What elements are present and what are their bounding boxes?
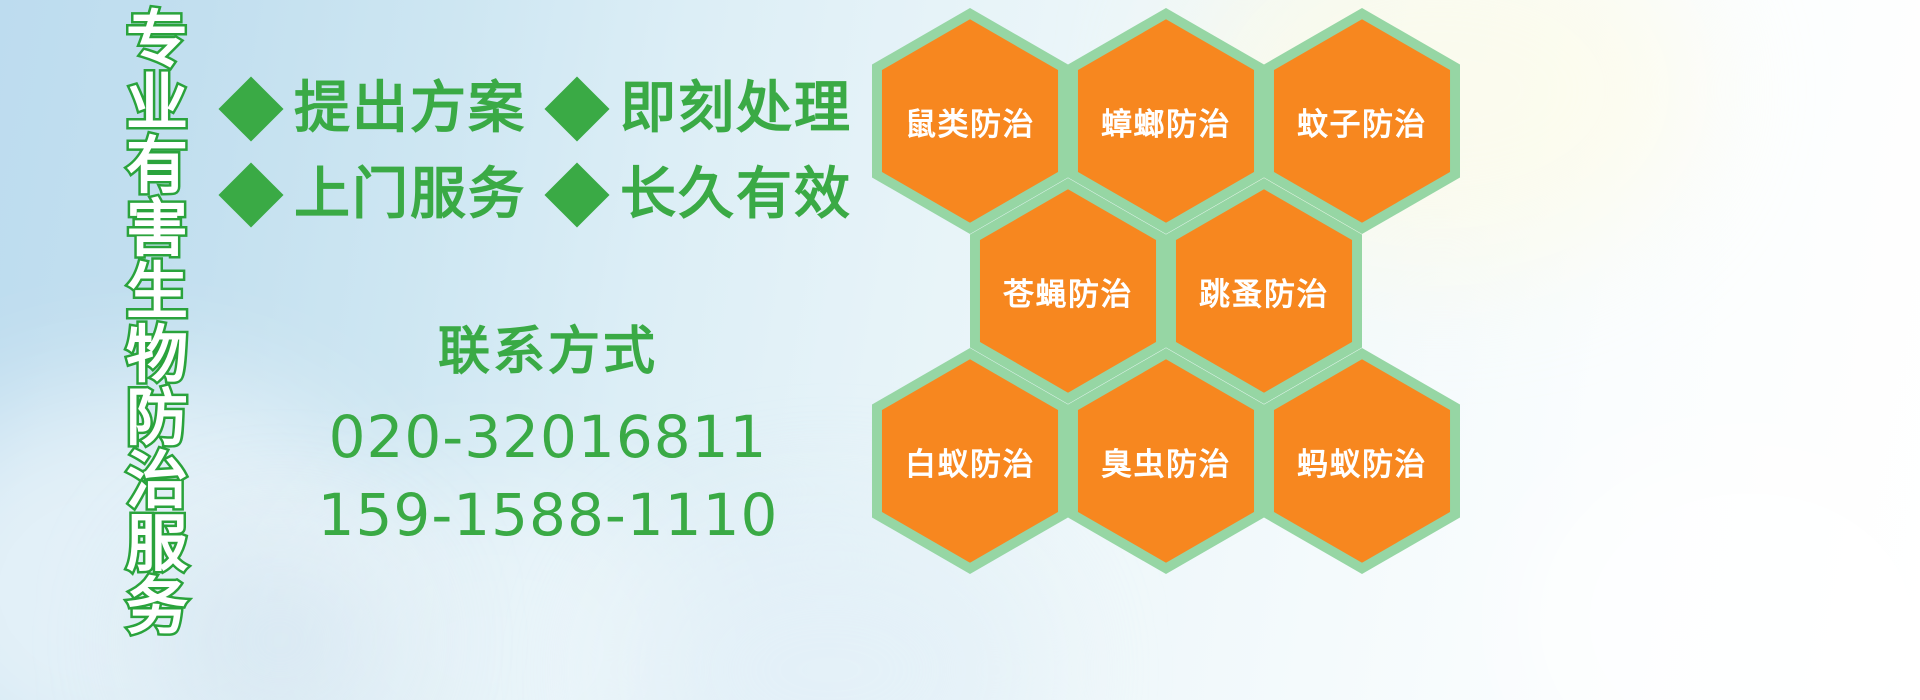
vertical-headline-char: 生: [126, 260, 188, 323]
vertical-headline-char: 害: [126, 197, 188, 260]
hex-cell-termite-control[interactable]: 白蚁防治: [872, 348, 1068, 574]
diamond-bullet-icon: [544, 162, 609, 227]
hex-label: 白蚁防治: [872, 348, 1068, 574]
hex-cell-bedbug-control[interactable]: 臭虫防治: [1068, 348, 1264, 574]
feature-item-onsite-service: 上门服务: [228, 164, 526, 226]
phone-number-mobile[interactable]: 159-1588-1110: [258, 476, 838, 554]
vertical-headline-char: 治: [126, 449, 188, 512]
background-blob: [1520, 430, 1920, 700]
feature-label: 上门服务: [294, 164, 526, 226]
feature-label: 即刻处理: [620, 78, 852, 140]
promo-banner: 专 业 有 害 生 物 防 治 服 务 提出方案 即刻处理 上门服务: [0, 0, 1920, 700]
vertical-headline-char: 服: [126, 512, 188, 575]
diamond-bullet-icon: [218, 162, 283, 227]
feature-item-long-lasting: 长久有效: [554, 164, 852, 226]
vertical-headline-char: 有: [126, 134, 188, 197]
feature-row: 提出方案 即刻处理: [228, 78, 852, 140]
phone-number-landline[interactable]: 020-32016811: [258, 398, 838, 476]
vertical-headline-char: 专: [126, 8, 188, 71]
feature-list: 提出方案 即刻处理 上门服务 长久有效: [228, 78, 852, 250]
vertical-headline-char: 务: [126, 575, 188, 638]
contact-title: 联系方式: [258, 320, 838, 384]
vertical-headline: 专 业 有 害 生 物 防 治 服 务: [108, 8, 206, 568]
feature-row: 上门服务 长久有效: [228, 164, 852, 226]
service-honeycomb: 鼠类防治 蟑螂防治 蚊子防治 苍蝇防治 跳蚤防治 白蚁防治: [860, 0, 1480, 700]
hex-label: 蚂蚁防治: [1264, 348, 1460, 574]
feature-label: 提出方案: [294, 78, 526, 140]
diamond-bullet-icon: [544, 76, 609, 141]
hex-label: 臭虫防治: [1068, 348, 1264, 574]
vertical-headline-char: 防: [126, 386, 188, 449]
feature-label: 长久有效: [620, 164, 852, 226]
contact-block: 联系方式 020-32016811 159-1588-1110: [258, 320, 838, 554]
vertical-headline-char: 业: [126, 71, 188, 134]
feature-item-immediate-treatment: 即刻处理: [554, 78, 852, 140]
diamond-bullet-icon: [218, 76, 283, 141]
vertical-headline-char: 物: [126, 323, 188, 386]
hex-cell-ant-control[interactable]: 蚂蚁防治: [1264, 348, 1460, 574]
feature-item-propose-plan: 提出方案: [228, 78, 526, 140]
